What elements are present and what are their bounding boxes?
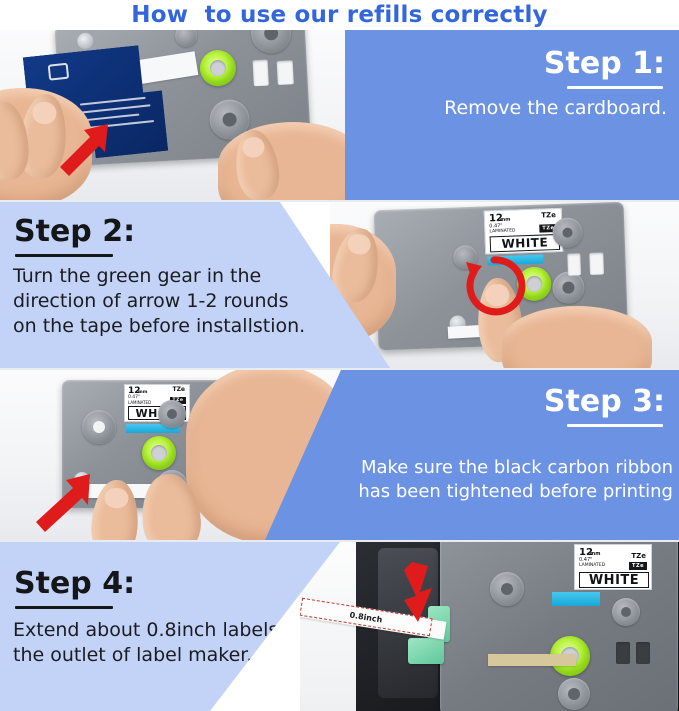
label-laminated: LAMINATED (489, 228, 515, 234)
step-4-panel: 12 mm TZe 0.47" LAMINATED TZe WHITE (0, 542, 679, 711)
infographic-page: How to use our refills correctly (0, 0, 679, 711)
label-series: TZe (172, 386, 185, 393)
label-series: TZe (541, 211, 556, 220)
label-badge: TZe (629, 562, 647, 570)
step-1-panel: Step 1: Remove the cardboard. (0, 30, 679, 200)
step-4-body: Extend about 0.8inch labels to the outle… (13, 618, 303, 668)
step-4-heading: Step 4: (14, 566, 135, 601)
tape-guide (408, 638, 444, 664)
red-arrow-up-left-icon (50, 118, 112, 180)
red-circular-arrow-icon (460, 252, 528, 320)
step-1-heading: Step 1: (544, 46, 665, 81)
step-2-panel: 12 mm TZe 0.47" LAMINATED TZe WHITE (0, 202, 679, 368)
step-4-photo: 12 mm TZe 0.47" LAMINATED TZe WHITE (300, 542, 679, 711)
measurement-value: 0.8inch (349, 610, 383, 624)
label-laminated: LAMINATED (128, 400, 151, 405)
red-arrow-down-icon (394, 560, 450, 628)
step-2-body: Turn the green gear in the direction of … (13, 264, 305, 339)
step-3-panel: 12 mm TZe 0.47" LAMINATED TZe WHITE (0, 370, 679, 540)
red-arrow-up-right-icon (28, 470, 96, 538)
page-title: How to use our refills correctly (131, 2, 547, 28)
green-gear-icon (199, 49, 237, 87)
tape-cassette: 12 mm TZe 0.47" LAMINATED TZe WHITE (440, 542, 678, 711)
step-4-rule (15, 606, 113, 609)
label-color-name: WHITE (490, 234, 561, 252)
step-2-rule (15, 254, 113, 257)
page-title-bar: How to use our refills correctly (0, 0, 679, 30)
label-laminated: LAMINATED (579, 563, 605, 568)
step-2-photo: 12 mm TZe 0.47" LAMINATED TZe WHITE (330, 202, 679, 368)
step-1-photo (0, 30, 345, 200)
step-3-rule (567, 424, 663, 427)
cassette-label: 12 mm TZe 0.47" LAMINATED TZe WHITE (484, 208, 563, 255)
step-2-heading: Step 2: (14, 214, 135, 249)
label-color-name: WHITE (579, 572, 649, 588)
step-3-body: Make sure the black carbon ribbon has be… (358, 456, 673, 504)
step-3-heading: Step 3: (544, 384, 665, 419)
label-series: TZe (631, 552, 646, 560)
step-1-rule (567, 86, 663, 89)
step-1-body: Remove the cardboard. (444, 96, 667, 121)
green-gear-icon (142, 436, 176, 470)
step-1-text-panel: Step 1: Remove the cardboard. (345, 30, 679, 200)
cassette-label: 12 mm TZe 0.47" LAMINATED TZe WHITE (574, 544, 652, 590)
